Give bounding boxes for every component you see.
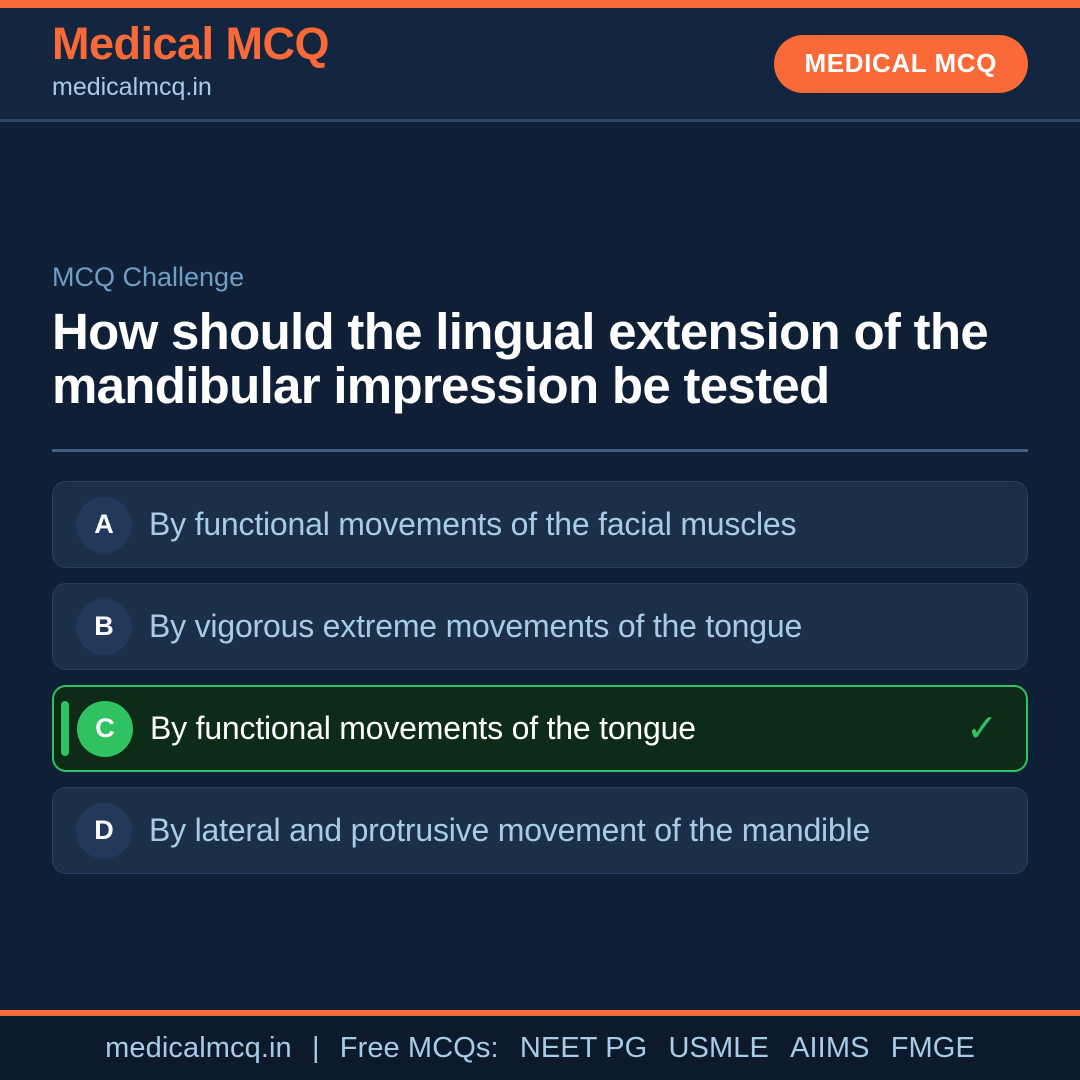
section-divider <box>52 449 1028 452</box>
top-accent-bar <box>0 0 1080 8</box>
footer-site[interactable]: medicalmcq.in <box>105 1032 292 1064</box>
footer-exam-tag[interactable]: NEET PG <box>520 1032 647 1064</box>
options-list: A By functional movements of the facial … <box>52 481 1028 874</box>
option-label: By functional movements of the tongue <box>150 712 962 745</box>
page-footer: medicalmcq.in | Free MCQs: NEET PG USMLE… <box>0 1010 1080 1080</box>
option-row-a[interactable]: A By functional movements of the facial … <box>52 481 1028 568</box>
option-row-c[interactable]: C By functional movements of the tongue … <box>52 685 1028 772</box>
main-content: MCQ Challenge How should the lingual ext… <box>0 125 1080 1010</box>
option-letter-badge: C <box>77 701 133 757</box>
option-label: By vigorous extreme movements of the ton… <box>149 610 963 643</box>
footer-exam-tag[interactable]: FMGE <box>891 1032 975 1064</box>
footer-label: Free MCQs: <box>340 1032 499 1064</box>
option-label: By lateral and protrusive movement of th… <box>149 814 963 847</box>
brand-block: Medical MCQ medicalmcq.in <box>52 21 329 106</box>
footer-text: medicalmcq.in | Free MCQs: NEET PG USMLE… <box>105 1032 975 1065</box>
option-row-b[interactable]: B By vigorous extreme movements of the t… <box>52 583 1028 670</box>
page-header: Medical MCQ medicalmcq.in MEDICAL MCQ <box>0 8 1080 122</box>
header-badge: MEDICAL MCQ <box>774 35 1028 93</box>
option-label: By functional movements of the facial mu… <box>149 508 963 541</box>
footer-exam-tag[interactable]: USMLE <box>668 1032 768 1064</box>
option-row-d[interactable]: D By lateral and protrusive movement of … <box>52 787 1028 874</box>
footer-exam-tags: NEET PG USMLE AIIMS FMGE <box>507 1032 975 1064</box>
brand-title: Medical MCQ <box>52 21 329 67</box>
correct-accent-bar <box>61 701 69 756</box>
footer-separator: | <box>300 1032 332 1064</box>
question-text: How should the lingual extension of the … <box>52 305 1028 413</box>
option-letter-badge: D <box>76 803 132 859</box>
check-icon: ✓ <box>962 710 1002 748</box>
footer-exam-tag[interactable]: AIIMS <box>790 1032 869 1064</box>
page-kicker: MCQ Challenge <box>52 261 1028 293</box>
option-letter-badge: B <box>76 599 132 655</box>
option-letter-badge: A <box>76 497 132 553</box>
brand-site-url: medicalmcq.in <box>52 69 329 107</box>
